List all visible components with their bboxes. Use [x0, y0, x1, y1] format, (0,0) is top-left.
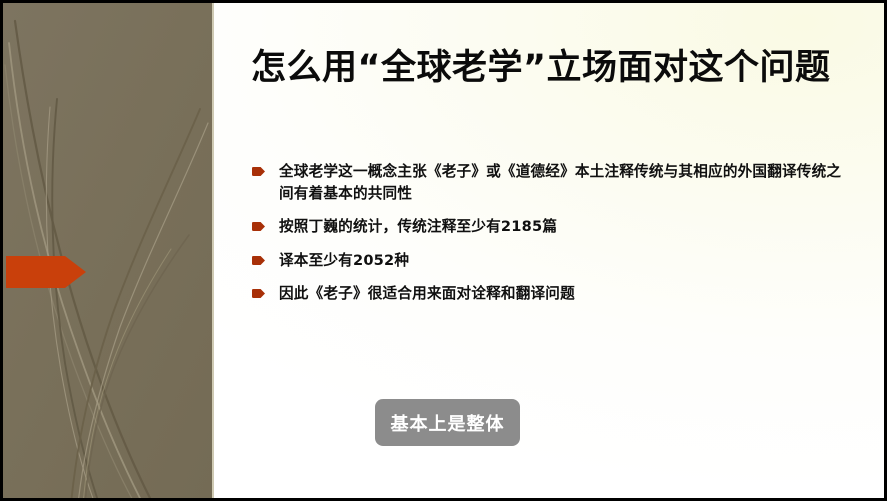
slide-sidebar-decoration	[3, 3, 212, 498]
bullet-arrow-icon	[252, 222, 265, 231]
grass-stems-decoration	[3, 3, 212, 498]
accent-arrow-icon	[6, 255, 86, 289]
bullet-arrow-icon	[252, 167, 265, 176]
list-item: 译本至少有2052种	[252, 250, 842, 272]
sidebar-divider	[212, 3, 214, 498]
presentation-slide: 怎么用“全球老学”立场面对这个问题 全球老学这一概念主张《老子》或《道德经》本土…	[0, 0, 887, 501]
list-item: 因此《老子》很适合用来面对诠释和翻译问题	[252, 283, 842, 305]
list-item-text: 因此《老子》很适合用来面对诠释和翻译问题	[279, 283, 842, 305]
bullet-arrow-icon	[252, 256, 265, 265]
list-item-text: 译本至少有2052种	[279, 250, 842, 272]
bullet-arrow-icon	[252, 289, 265, 298]
list-item-text: 全球老学这一概念主张《老子》或《道德经》本土注释传统与其相应的外国翻译传统之间有…	[279, 161, 842, 205]
slide-title: 怎么用“全球老学”立场面对这个问题	[251, 47, 851, 91]
callout-box: 基本上是整体	[375, 399, 520, 446]
list-item: 全球老学这一概念主张《老子》或《道德经》本土注释传统与其相应的外国翻译传统之间有…	[252, 161, 842, 205]
callout-label: 基本上是整体	[391, 410, 505, 436]
slide-bullet-list: 全球老学这一概念主张《老子》或《道德经》本土注释传统与其相应的外国翻译传统之间有…	[252, 161, 842, 316]
list-item: 按照丁巍的统计，传统注释至少有2185篇	[252, 216, 842, 238]
list-item-text: 按照丁巍的统计，传统注释至少有2185篇	[279, 216, 842, 238]
